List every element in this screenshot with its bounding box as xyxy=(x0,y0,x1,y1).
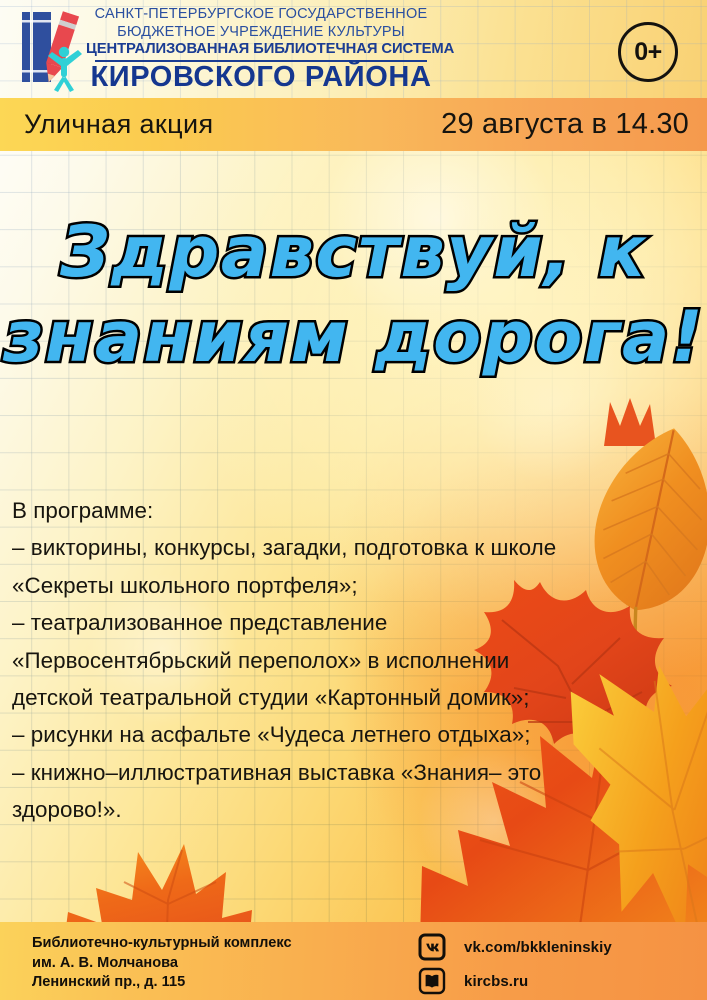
contact-links-block: vk.com/bkkleninskiy kircbs.ru xyxy=(418,932,612,1000)
poster-root: САНКТ-ПЕТЕРБУРГСКОЕ ГОСУДАРСТВЕННОЕ БЮДЖ… xyxy=(0,0,707,1000)
vk-link-label[interactable]: vk.com/bkkleninskiy xyxy=(464,939,612,956)
org-line-1: САНКТ-ПЕТЕРБУРГСКОЕ ГОСУДАРСТВЕННОЕ xyxy=(86,5,436,22)
program-item: – книжно–иллюстративная выставка «Знания… xyxy=(12,754,696,791)
program-item: здорово!». xyxy=(12,791,696,828)
poster-title: Здравствуй, к знаниям дорога! xyxy=(0,218,707,371)
program-item: – рисунки на асфальте «Чудеса летнего от… xyxy=(12,716,696,753)
org-line-3: ЦЕНТРАЛИЗОВАННАЯ БИБЛИОТЕЧНАЯ СИСТЕМА xyxy=(86,39,436,57)
venue-line-3: Ленинский пр., д. 115 xyxy=(32,973,292,993)
website-link-row[interactable]: kircbs.ru xyxy=(418,966,612,996)
title-line-2: знаниям дорога! xyxy=(0,303,707,372)
program-item: «Секреты школьного портфеля»; xyxy=(12,567,696,604)
event-type-label: Уличная акция xyxy=(24,109,214,140)
event-datetime-label: 29 августа в 14.30 xyxy=(441,108,689,141)
website-link-label[interactable]: kircbs.ru xyxy=(464,973,528,990)
org-line-2: БЮДЖЕТНОЕ УЧРЕЖДЕНИЕ КУЛЬТУРЫ xyxy=(86,22,436,40)
book-pencil-person-logo-icon xyxy=(14,6,92,92)
venue-line-2: им. А. В. Молчанова xyxy=(32,954,292,974)
age-rating-badge: 0+ xyxy=(618,22,678,82)
org-line-4: КИРОВСКОГО РАЙОНА xyxy=(86,62,436,92)
venue-address-block: Библиотечно-культурный комплекс им. А. В… xyxy=(32,934,292,993)
program-item: детской театральной студии «Картонный до… xyxy=(12,679,696,716)
program-item: – викторины, конкурсы, загадки, подготов… xyxy=(12,529,696,566)
event-banner: Уличная акция 29 августа в 14.30 xyxy=(0,98,707,151)
poster-footer: Библиотечно-культурный комплекс им. А. В… xyxy=(0,922,707,1000)
program-item: «Первосентябрьский переполох» в исполнен… xyxy=(12,642,696,679)
organization-name-block: САНКТ-ПЕТЕРБУРГСКОЕ ГОСУДАРСТВЕННОЕ БЮДЖ… xyxy=(86,5,436,92)
vk-icon xyxy=(418,933,446,961)
program-item: – театрализованное представление xyxy=(12,604,696,641)
poster-header: САНКТ-ПЕТЕРБУРГСКОЕ ГОСУДАРСТВЕННОЕ БЮДЖ… xyxy=(0,0,707,98)
program-heading: В программе: xyxy=(12,492,696,529)
vk-link-row[interactable]: vk.com/bkkleninskiy xyxy=(418,932,612,962)
program-section: В программе: – викторины, конкурсы, зага… xyxy=(12,492,696,829)
venue-line-1: Библиотечно-культурный комплекс xyxy=(32,934,292,954)
title-line-1: Здравствуй, к xyxy=(0,218,707,287)
open-book-icon xyxy=(418,967,446,995)
